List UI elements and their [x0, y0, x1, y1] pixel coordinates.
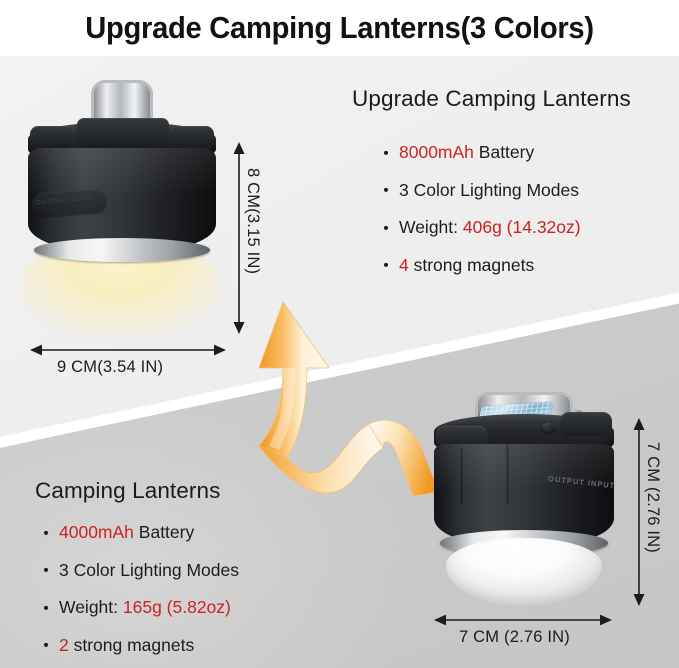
upgrade-panel-title: Upgrade Camping Lanterns: [352, 86, 631, 112]
bullet-highlight: 4000mAh: [59, 522, 134, 542]
bullet-rest: 3 Color Lighting Modes: [399, 180, 579, 200]
bullet-rest: Battery: [474, 142, 534, 162]
bullet-highlight: 406g (14.32oz): [463, 217, 581, 237]
upgrade-arrow-ribbon: [243, 296, 443, 546]
power-button: [542, 423, 555, 432]
list-item: 4000mAh Battery: [42, 524, 239, 542]
list-item: 2 strong magnets: [42, 637, 239, 655]
standard-width-dimension: [434, 612, 612, 628]
bullet-rest: strong magnets: [69, 635, 194, 655]
list-item: 3 Color Lighting Modes: [42, 562, 239, 580]
curved-arrow-icon: [243, 296, 443, 546]
upgrade-lantern-side-tab-right: [170, 126, 214, 148]
bullet-highlight: 8000mAh: [399, 142, 474, 162]
standard-lantern-rib: [506, 444, 509, 504]
standard-lantern-side-tab-right: [560, 412, 612, 436]
upgrade-lantern-chrome-ring: [34, 238, 210, 262]
upgrade-width-dimension: [30, 342, 226, 358]
standard-feature-list: 4000mAh Battery 3 Color Lighting Modes W…: [42, 524, 239, 668]
upgrade-feature-list: 8000mAh Battery 3 Color Lighting Modes W…: [382, 144, 581, 294]
bullet-lead: Weight:: [59, 597, 123, 617]
product-infographic: Upgrade Camping Lanterns(3 Colors) OUTPU…: [0, 0, 679, 668]
width-arrow-icon: [434, 612, 612, 628]
upgrade-lantern-illustration: OUTPUT INPUT: [22, 78, 222, 328]
bullet-highlight: 2: [59, 635, 69, 655]
list-item: Weight: 406g (14.32oz): [382, 219, 581, 237]
standard-lantern-illustration: OUTPUT INPUT: [428, 392, 620, 607]
standard-lantern-rib: [460, 448, 463, 504]
list-item: Weight: 165g (5.82oz): [42, 599, 239, 617]
bullet-highlight: 165g (5.82oz): [123, 597, 231, 617]
standard-width-label: 7 CM (2.76 IN): [459, 628, 570, 647]
upgrade-lantern-center-plate: [77, 118, 169, 148]
bullet-highlight: 4: [399, 255, 409, 275]
bullet-rest: Battery: [134, 522, 194, 542]
list-item: 4 strong magnets: [382, 257, 581, 275]
upgrade-width-label: 9 CM(3.54 IN): [57, 358, 163, 377]
upgrade-height-label: 8 CM(3.15 IN): [243, 168, 262, 274]
standard-height-label: 7 CM (2.76 IN): [643, 442, 662, 553]
standard-lantern-white-dome: [446, 538, 602, 606]
standard-panel-title: Camping Lanterns: [35, 478, 220, 504]
list-item: 8000mAh Battery: [382, 144, 581, 162]
bullet-lead: Weight:: [399, 217, 463, 237]
bullet-rest: strong magnets: [409, 255, 534, 275]
page-title: Upgrade Camping Lanterns(3 Colors): [85, 10, 594, 46]
bullet-rest: 3 Color Lighting Modes: [59, 560, 239, 580]
list-item: 3 Color Lighting Modes: [382, 182, 581, 200]
upgrade-lantern-side-tab-left: [30, 126, 74, 148]
width-arrow-icon: [30, 342, 226, 358]
header-band: Upgrade Camping Lanterns(3 Colors): [0, 0, 679, 56]
